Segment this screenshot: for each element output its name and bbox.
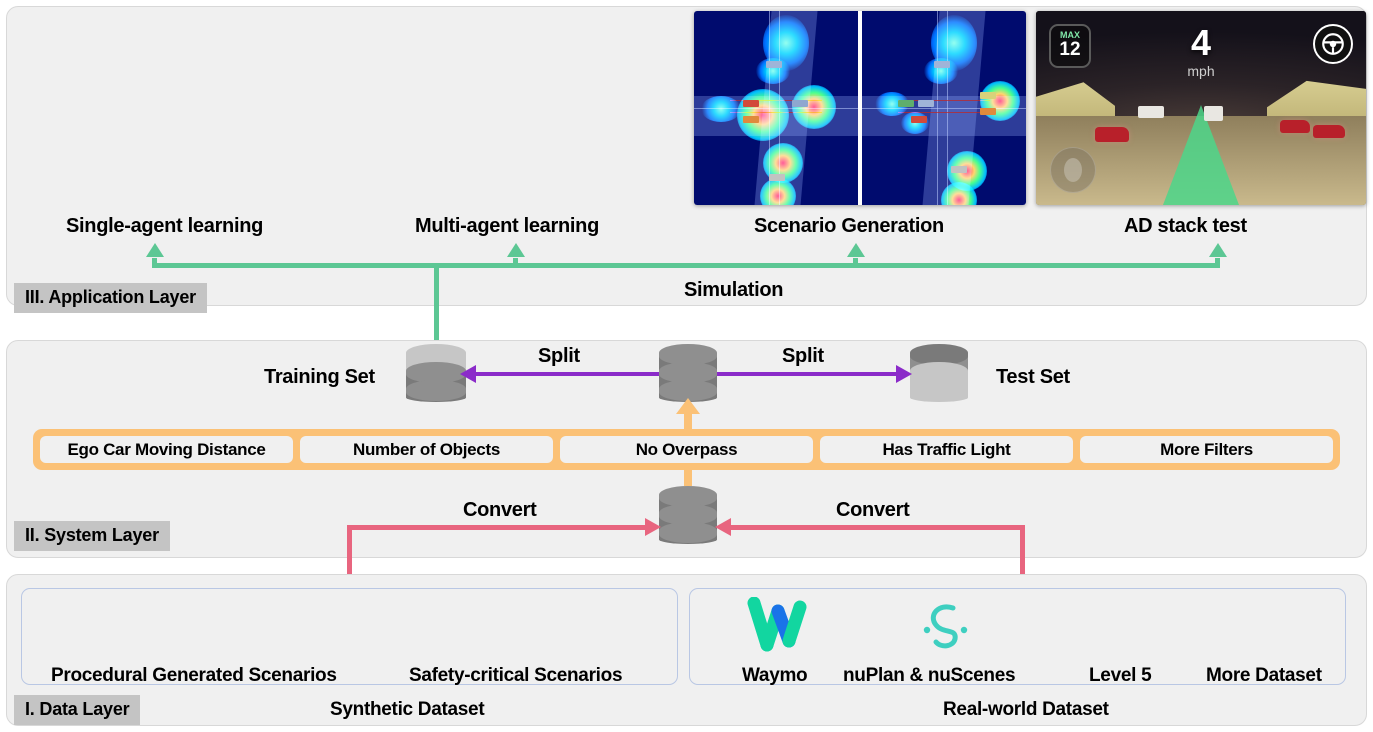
filter-chip-has-traffic-light[interactable]: Has Traffic Light [820,436,1073,463]
split-label-right: Split [782,345,824,368]
sim-riser-1 [152,258,157,268]
data-layer-badge: I. Data Layer [14,695,140,725]
filter-chip-ego-car-moving-distance[interactable]: Ego Car Moving Distance [40,436,293,463]
sim-riser-3 [853,258,858,268]
sim-arrow-ad-stack [1209,243,1227,257]
filter-bar: Ego Car Moving Distance Number of Object… [33,429,1340,470]
parked-car [1313,125,1345,138]
realworld-dataset-caption: Real-world Dataset [943,699,1109,721]
traffic-heatmap-left [694,11,858,205]
truck [1204,106,1223,121]
training-set-label: Training Set [264,366,375,389]
filter-arrow-up [676,398,700,414]
app-label-multi-agent-learning: Multi-agent learning [415,215,599,238]
steering-wheel-icon [1313,24,1353,64]
synthetic-item-safety-critical: Safety-critical Scenarios [409,665,622,687]
sim-arrow-single-agent [146,243,164,257]
filter-chip-number-of-objects[interactable]: Number of Objects [300,436,553,463]
simulation-bus-line [152,263,1220,268]
speed-unit: mph [1036,63,1366,79]
parked-car [1095,127,1129,142]
training-set-db [406,344,466,406]
realworld-item-nuplan: nuPlan & nuScenes [843,665,1015,687]
convert-line-right [729,525,1025,530]
convert-arrow-right [715,518,731,536]
waymo-logo [744,597,810,653]
convert-label-left: Convert [463,499,536,522]
joystick-icon [1050,147,1096,193]
split-arrow-to-training [460,365,476,383]
test-set-db [910,344,968,406]
sim-riser-2 [513,258,518,268]
split-line-right [717,372,899,376]
traffic-heatmap-right [862,11,1026,205]
simulation-source-line [434,263,439,341]
nuscenes-logo [912,597,978,653]
synthetic-dataset-caption: Synthetic Dataset [330,699,484,721]
planned-path-overlay [1163,105,1239,205]
test-set-label: Test Set [996,366,1070,389]
sim-arrow-multi-agent [507,243,525,257]
split-label-left: Split [538,345,580,368]
application-layer-badge: III. Application Layer [14,283,207,313]
scenario-generation-screenshot [694,11,1026,205]
realworld-item-more: More Dataset [1206,665,1322,687]
split-source-db [659,344,717,406]
synthetic-item-procedural: Procedural Generated Scenarios [51,665,337,687]
simulation-flow-label: Simulation [684,279,783,302]
convert-label-right: Convert [836,499,909,522]
split-arrow-to-test [896,365,912,383]
system-layer-badge: II. System Layer [14,521,170,551]
truck [1138,106,1164,118]
converted-db [659,486,717,548]
parked-car [1280,120,1310,133]
split-line-left [475,372,659,376]
app-label-scenario-generation: Scenario Generation [754,215,944,238]
filter-chip-no-overpass[interactable]: No Overpass [560,436,813,463]
filter-riser-lower [684,470,692,486]
realworld-item-level5: Level 5 [1089,665,1151,687]
filter-chip-more-filters[interactable]: More Filters [1080,436,1333,463]
sim-riser-4 [1215,258,1220,268]
sim-arrow-scenario-gen [847,243,865,257]
app-label-single-agent-learning: Single-agent learning [66,215,263,238]
convert-arrow-left [645,518,661,536]
realworld-item-waymo: Waymo [742,665,807,687]
convert-line-left [347,525,647,530]
app-label-ad-stack-test: AD stack test [1124,215,1247,238]
ad-stack-test-screenshot: MAX 12 4 mph [1036,11,1366,205]
